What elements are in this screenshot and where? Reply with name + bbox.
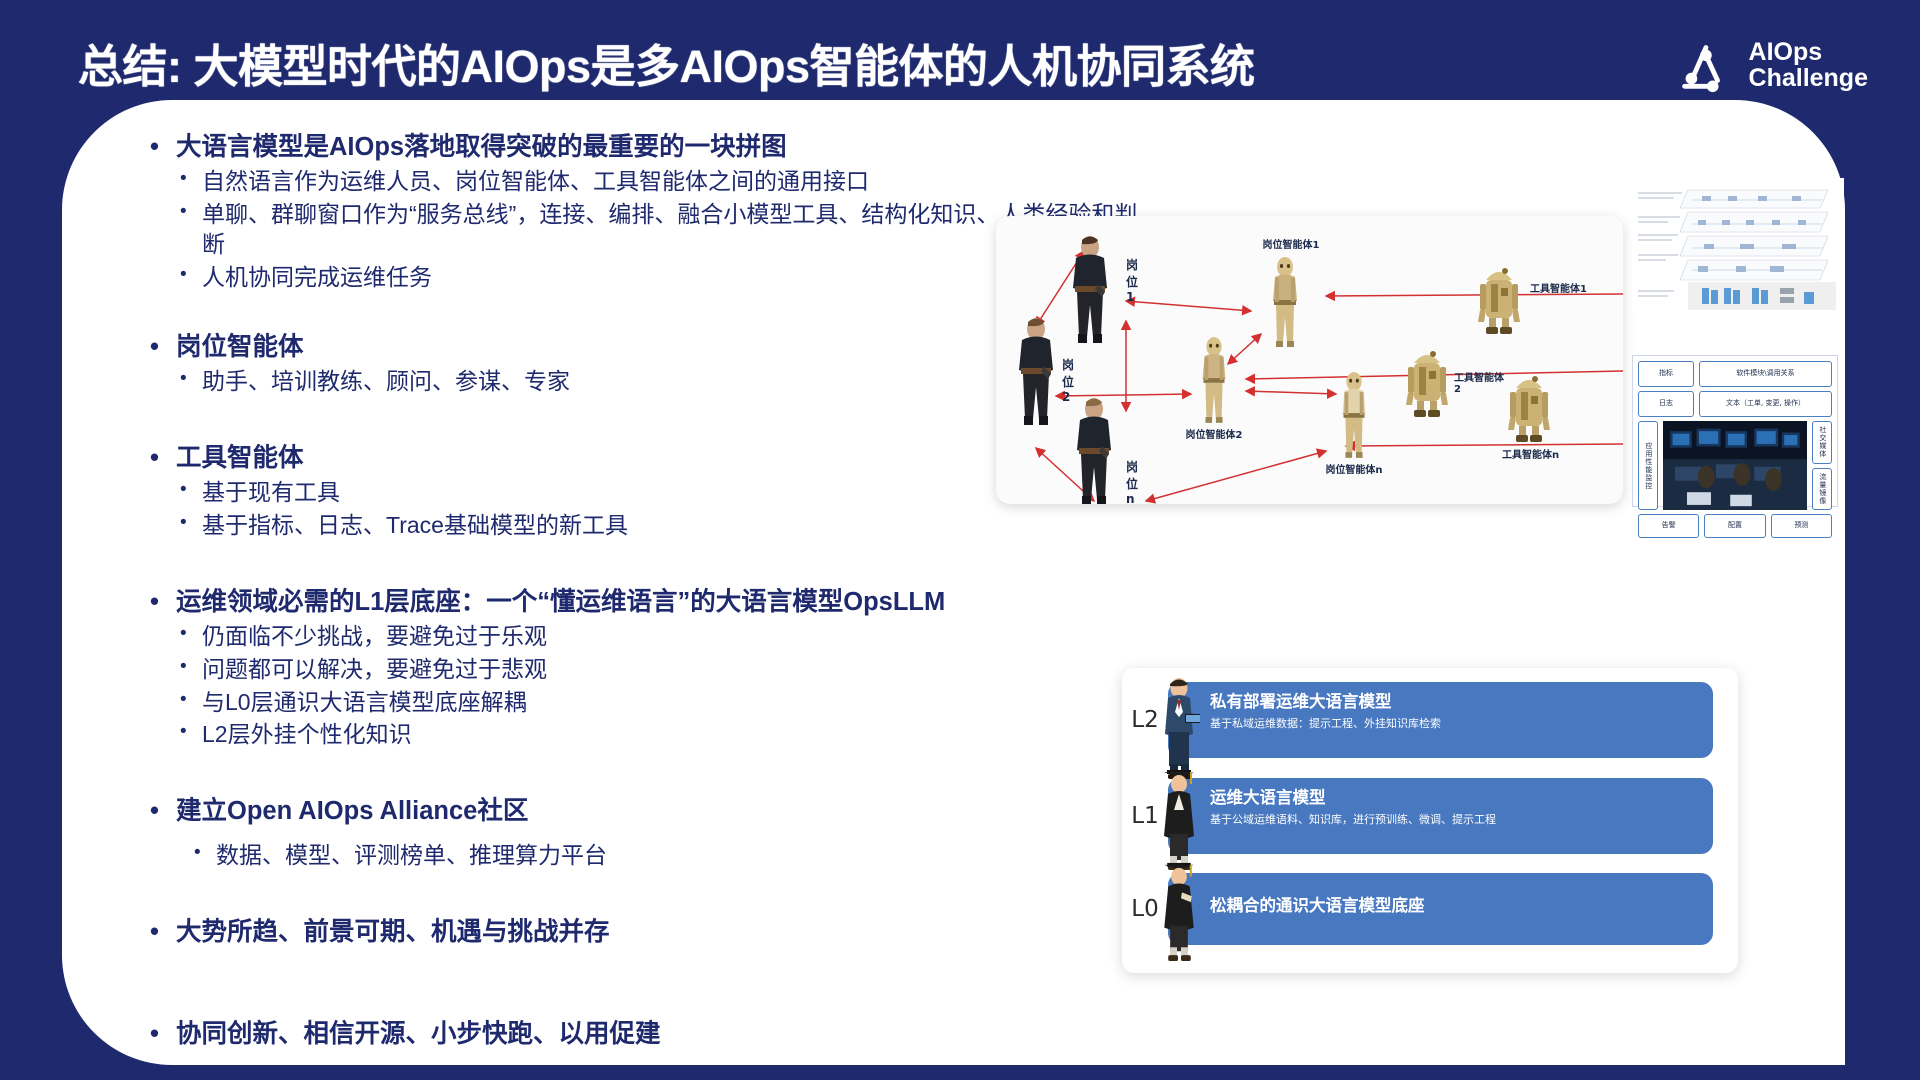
- bullet-marker: •: [180, 622, 202, 652]
- noc-photo: [1663, 421, 1807, 510]
- bullet-marker: •: [180, 478, 202, 508]
- bullet-level1: • 大语言模型是AIOps落地取得突破的最重要的一块拼图: [150, 132, 1160, 164]
- bullet-marker: •: [194, 841, 216, 871]
- bullet-marker: •: [180, 720, 202, 750]
- brand-text: AIOps Challenge: [1749, 39, 1868, 92]
- bullet-marker: •: [180, 367, 202, 397]
- bullet-marker: •: [180, 167, 202, 197]
- bullet-marker: •: [150, 1019, 176, 1051]
- model-layer-l0: L0 松耦合的通识大语言模型底座: [1122, 873, 1738, 945]
- ops-chip-logs: 日志: [1638, 391, 1694, 417]
- node-label: 岗位智能体n: [1318, 461, 1390, 476]
- ops-row-metrics: 指标 软件模块\调用关系: [1638, 361, 1832, 387]
- bullet-text: 自然语言作为运维人员、岗位智能体、工具智能体之间的通用接口: [202, 167, 869, 197]
- layer-subtitle: 基于私域运维数据：提示工程、外挂知识库检索: [1210, 718, 1713, 731]
- bullet-level1: • 协同创新、相信开源、小步快跑、以用促建: [150, 1019, 1160, 1051]
- bullet-level2: • 自然语言作为运维人员、岗位智能体、工具智能体之间的通用接口: [180, 167, 1160, 197]
- aiops-logo-icon: [1673, 34, 1735, 96]
- graduate-icon: [1158, 766, 1200, 872]
- model-layer-l1: L1 运维大语言模型 基于公域运维语料、知识库，进行预训练、微调、提示工程: [1122, 778, 1738, 854]
- graduate-icon: [1158, 859, 1200, 963]
- human-figure-icon: [1010, 316, 1062, 426]
- ops-row-middle: 应用性能监控: [1638, 421, 1832, 510]
- layer-bar: 私有部署运维大语言模型 基于私域运维数据：提示工程、外挂知识库检索: [1168, 682, 1713, 758]
- bullet-text: 大势所趋、前景可期、机遇与挑战并存: [176, 917, 610, 949]
- android-figure-icon: [1334, 371, 1374, 459]
- bullet-marker: •: [150, 443, 176, 475]
- bullet-text: 问题都可以解决，要避免过于悲观: [202, 655, 547, 685]
- layer-bar: 运维大语言模型 基于公域运维语料、知识库，进行预训练、微调、提示工程: [1168, 778, 1713, 854]
- android-figure-icon: [1264, 256, 1306, 348]
- ops-row-logs: 日志 文本（工单, 变更, 操作）: [1638, 391, 1832, 417]
- ops-chip-traffic-mirror: 流量镜像: [1812, 468, 1832, 511]
- bullet-text: 与L0层通识大语言模型底座解耦: [202, 688, 527, 718]
- brand-line-1: AIOps: [1749, 39, 1868, 65]
- businessman-laptop-icon: [1158, 676, 1200, 780]
- bullet-text: L2层外挂个性化知识: [202, 720, 412, 750]
- brand-logo: AIOps Challenge: [1673, 34, 1868, 96]
- ops-chip-metrics: 指标: [1638, 361, 1694, 387]
- layer-subtitle: 基于公域运维语料、知识库，进行预训练、微调、提示工程: [1210, 814, 1713, 827]
- layer-title: 私有部署运维大语言模型: [1210, 693, 1713, 713]
- bullet-marker: •: [180, 655, 202, 685]
- bullet-level2: • 基于指标、日志、Trace基础模型的新工具: [180, 511, 1160, 541]
- android-figure-icon: [1194, 336, 1234, 424]
- droid-figure-icon: [1404, 341, 1450, 419]
- node-label: 工具智能体 2: [1454, 369, 1512, 395]
- bullet-marker: •: [150, 132, 176, 164]
- bullet-marker: •: [150, 917, 176, 949]
- ops-chip-social-media: 社交媒体: [1812, 421, 1832, 464]
- bullet-marker: •: [150, 587, 176, 619]
- human-figure-icon: [1064, 234, 1116, 344]
- architecture-sketch-icon: [1632, 178, 1844, 312]
- layer-title: 运维大语言模型: [1210, 789, 1713, 809]
- bullet-text: 数据、模型、评测榜单、推理算力平台: [216, 841, 607, 871]
- droid-figure-icon: [1476, 258, 1522, 336]
- bullet-text: 工具智能体: [176, 443, 304, 475]
- ops-data-panel: 指标 软件模块\调用关系 日志 文本（工单, 变更, 操作） 应用性能监控: [1632, 355, 1838, 507]
- ops-chip-module-relations: 软件模块\调用关系: [1699, 361, 1832, 387]
- bullet-marker: •: [150, 796, 176, 828]
- control-room-icon: [1663, 421, 1807, 510]
- node-label: 岗位n: [1126, 458, 1138, 504]
- node-label: 岗位智能体1: [1246, 236, 1336, 251]
- bullet-level2: • L2层外挂个性化知识: [180, 720, 1160, 750]
- bullet-level2: • 数据、模型、评测榜单、推理算力平台: [194, 841, 1160, 871]
- layer-title: 松耦合的通识大语言模型底座: [1210, 897, 1713, 917]
- bullet-marker: •: [180, 263, 202, 293]
- ops-chip-forecast: 预测: [1771, 514, 1832, 538]
- bullet-marker: •: [180, 511, 202, 541]
- bullet-marker: •: [150, 332, 176, 364]
- node-label: 工具智能体n: [1502, 446, 1582, 461]
- bullet-text: 人机协同完成运维任务: [202, 263, 432, 293]
- node-label: 岗位1: [1126, 256, 1138, 304]
- bullet-text: 岗位智能体: [176, 332, 304, 364]
- human-figure-icon: [1068, 396, 1120, 504]
- bullet-marker: •: [180, 688, 202, 718]
- bullet-level1: • 运维领域必需的L1层底座：一个“懂运维语言”的大语言模型OpsLLM: [150, 587, 1160, 619]
- architecture-thumbnail: [1632, 178, 1844, 312]
- bullet-level1: • 大势所趋、前景可期、机遇与挑战并存: [150, 917, 1160, 949]
- bullet-text: 助手、培训教练、顾问、参谋、专家: [202, 367, 570, 397]
- droid-figure-icon: [1506, 366, 1552, 444]
- bullet-level1: • 建立Open AIOps Alliance社区: [150, 796, 1160, 828]
- page-title: 总结: 大模型时代的AIOps是多AIOps智能体的人机协同系统: [78, 30, 1255, 95]
- model-stack-panel: L2 私有部署运维大语言模型 基于私域运维数据：提示工程、外挂知识库检索 L1 …: [1122, 668, 1738, 973]
- bullet-text: 基于现有工具: [202, 478, 340, 508]
- bullet-text: 运维领域必需的L1层底座：一个“懂运维语言”的大语言模型OpsLLM: [176, 587, 945, 619]
- ops-row-bottom: 告警 配置 预测: [1638, 514, 1832, 538]
- bullet-text: 仍面临不少挑战，要避免过于乐观: [202, 622, 547, 652]
- bullet-level2: • 仍面临不少挑战，要避免过于乐观: [180, 622, 1160, 652]
- ops-chip-alarm: 告警: [1638, 514, 1699, 538]
- bullet-text: 协同创新、相信开源、小步快跑、以用促建: [176, 1019, 661, 1051]
- ops-chip-config: 配置: [1704, 514, 1765, 538]
- agent-network-diagram: 岗位1 岗位2 岗位n: [996, 216, 1623, 504]
- bullet-text: 建立Open AIOps Alliance社区: [176, 796, 528, 828]
- brand-line-2: Challenge: [1749, 65, 1868, 91]
- node-label: 岗位智能体2: [1178, 426, 1250, 441]
- model-layer-l2: L2 私有部署运维大语言模型 基于私域运维数据：提示工程、外挂知识库检索: [1122, 682, 1738, 758]
- layer-bar: 松耦合的通识大语言模型底座: [1168, 873, 1713, 945]
- bullet-marker: •: [180, 200, 202, 260]
- bullet-text: 大语言模型是AIOps落地取得突破的最重要的一块拼图: [176, 132, 787, 164]
- node-label: 工具智能体1: [1530, 280, 1610, 295]
- ops-chip-apm: 应用性能监控: [1638, 421, 1658, 510]
- bullet-level2: • 问题都可以解决，要避免过于悲观: [180, 655, 1160, 685]
- bullet-level2: • 与L0层通识大语言模型底座解耦: [180, 688, 1160, 718]
- bullet-text: 基于指标、日志、Trace基础模型的新工具: [202, 511, 628, 541]
- ops-chip-text: 文本（工单, 变更, 操作）: [1699, 391, 1832, 417]
